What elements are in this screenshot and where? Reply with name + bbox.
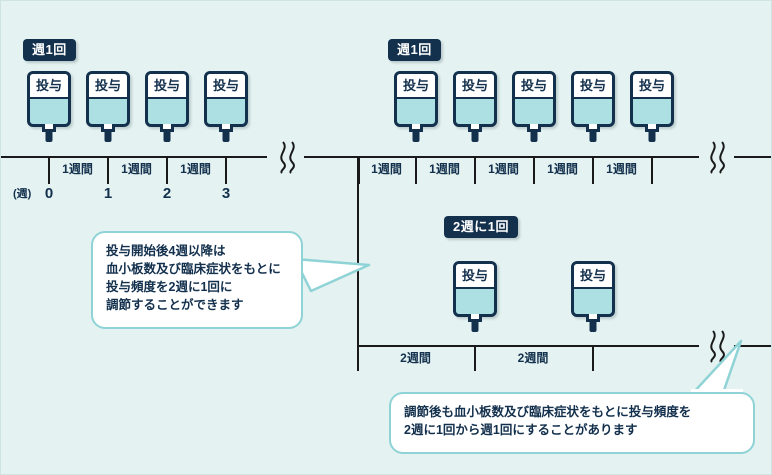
interval-label: 1週間 [417,161,472,177]
iv-bag-body: 投与 [571,71,615,127]
iv-bag-body: 投与 [571,261,615,317]
iv-bag-label: 投与 [574,264,612,289]
iv-bag-tube [472,131,479,142]
iv-bag-tube [472,321,479,332]
iv-bag-right-3: 投与 [512,71,556,127]
iv-bag-label: 投与 [515,74,553,99]
interval-right-4: 1週間 [535,162,590,178]
iv-bag-left-week3: 投与 [204,71,248,127]
axis-break-squiggle-right [701,139,735,175]
badge-weekly-left: 週1回 [23,39,76,61]
axis-break-squiggle-left [271,139,305,175]
interval-biweekly-2: 2週間 [476,351,590,367]
iv-bag-left-week0: 投与 [27,71,71,127]
interval-label: 1週間 [50,161,105,177]
week-number-0: 0 [45,186,53,201]
timeline-axis-right-after-break [734,156,772,158]
interval-label: 1週間 [168,161,223,177]
iv-bag-body: 投与 [630,71,674,127]
iv-bag-tube [164,131,171,142]
timeline-axis-left [1,156,267,158]
callout-adjust-frequency: 投与開始後4週以降は 血小板数及び臨床症状をもとに 投与頻度を2週に1回に 調節… [91,231,303,329]
badge-weekly-right: 週1回 [388,39,441,61]
iv-bag-right-2: 投与 [453,71,497,127]
iv-bag-tube [223,131,230,142]
interval-label: 2週間 [359,350,472,366]
axis-week-unit-label: (週) [13,189,31,200]
iv-bag-tube [46,131,53,142]
interval-right-1: 1週間 [360,162,413,178]
iv-bag-label: 投与 [207,74,245,99]
interval-right-5: 1週間 [594,162,649,178]
interval-label: 1週間 [476,161,531,177]
interval-left-2: 1週間 [109,162,164,178]
iv-bag-body: 投与 [394,71,438,127]
iv-bag-tube [649,131,656,142]
iv-bag-left-week2: 投与 [145,71,189,127]
interval-label: 1週間 [535,161,590,177]
interval-right-3: 1週間 [476,162,531,178]
iv-bag-label: 投与 [148,74,186,99]
iv-bag-tube [531,131,538,142]
iv-bag-tube [590,131,597,142]
iv-bag-body: 投与 [512,71,556,127]
iv-bag-body: 投与 [204,71,248,127]
interval-left-1: 1週間 [50,162,105,178]
axis-tick-week3 [225,156,227,184]
iv-bag-right-4: 投与 [571,71,615,127]
iv-bag-body: 投与 [86,71,130,127]
iv-bag-label: 投与 [397,74,435,99]
iv-bag-right-1: 投与 [394,71,438,127]
week-number-1: 1 [104,186,112,201]
iv-bag-label: 投与 [456,264,494,289]
timeline-axis-biweekly [357,345,699,347]
iv-bag-label: 投与 [574,74,612,99]
callout-tail-adjust [293,239,373,304]
iv-bag-biweekly-2: 投与 [571,261,615,317]
iv-bag-body: 投与 [453,71,497,127]
iv-bag-tube [590,321,597,332]
axis-tick-right-5 [651,156,653,184]
timeline-axis-left-after-break [304,156,358,158]
interval-right-2: 1週間 [417,162,472,178]
iv-bag-label: 投与 [633,74,671,99]
week-number-2: 2 [163,186,171,201]
interval-label: 1週間 [360,161,413,177]
iv-bag-body: 投与 [145,71,189,127]
interval-biweekly-1: 2週間 [359,351,472,367]
interval-label: 2週間 [476,350,590,366]
iv-bag-tube [105,131,112,142]
iv-bag-body: 投与 [453,261,497,317]
iv-bag-label: 投与 [30,74,68,99]
iv-bag-biweekly-1: 投与 [453,261,497,317]
badge-biweekly: 2週に1回 [444,216,518,238]
axis-tick-biweekly-2 [592,345,594,371]
iv-bag-body: 投与 [27,71,71,127]
iv-bag-tube [413,131,420,142]
dosing-schedule-diagram: 週1回 投与 投与 投与 投与 [0,0,772,475]
iv-bag-right-5: 投与 [630,71,674,127]
iv-bag-left-week1: 投与 [86,71,130,127]
iv-bag-label: 投与 [456,74,494,99]
interval-left-3: 1週間 [168,162,223,178]
iv-bag-label: 投与 [89,74,127,99]
interval-label: 1週間 [594,161,649,177]
callout-revert-frequency: 調節後も血小板数及び臨床症状をもとに投与頻度を 2週に1回から週1回にすることが… [389,392,755,454]
week-number-3: 3 [222,186,230,201]
timeline-axis-right [358,156,699,158]
interval-label: 1週間 [109,161,164,177]
